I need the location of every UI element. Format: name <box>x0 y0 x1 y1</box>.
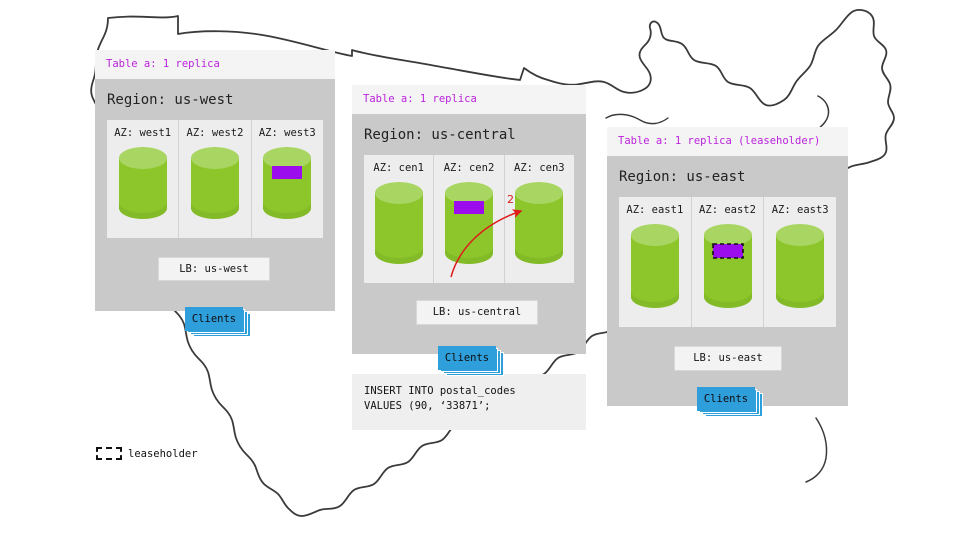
node-cylinder-west2[interactable] <box>189 146 241 220</box>
az-container-us-west: AZ: west1 AZ: west2 <box>107 120 323 238</box>
replica-marker <box>272 166 302 179</box>
cylinder-icon <box>629 223 681 309</box>
az-label-east1: AZ: east1 <box>626 204 683 216</box>
region-body-us-west: Region: us-west AZ: west1 AZ: west2 <box>95 79 335 311</box>
node-cylinder-cen3[interactable] <box>513 181 565 265</box>
table-header-us-east: Table a: 1 replica (leaseholder) <box>607 127 848 156</box>
region-panel-us-west: Table a: 1 replica Region: us-west AZ: w… <box>95 50 335 311</box>
clients-button-label[interactable]: Clients <box>438 346 496 370</box>
replica-marker <box>454 201 484 214</box>
region-panel-us-east: Table a: 1 replica (leaseholder) Region:… <box>607 127 848 406</box>
az-label-cen3: AZ: cen3 <box>514 162 565 174</box>
cylinder-icon <box>261 146 313 220</box>
legend-label: leaseholder <box>128 448 198 460</box>
step-number-2: 2 <box>507 193 514 206</box>
clients-button-us-west[interactable]: Clients <box>185 307 251 337</box>
clients-button-us-central[interactable]: Clients <box>438 346 504 376</box>
node-cylinder-west1[interactable] <box>117 146 169 220</box>
cylinder-icon <box>513 181 565 265</box>
node-cylinder-east3[interactable] <box>774 223 826 309</box>
node-cylinder-cen2[interactable] <box>443 181 495 265</box>
table-header-us-central: Table a: 1 replica <box>352 85 586 114</box>
az-label-west2: AZ: west2 <box>187 127 244 139</box>
az-container-us-central: AZ: cen1 AZ: cen2 <box>364 155 574 283</box>
region-body-us-east: Region: us-east AZ: east1 AZ: east2 <box>607 156 848 406</box>
node-cylinder-east2[interactable] <box>702 223 754 309</box>
load-balancer-us-west[interactable]: LB: us-west <box>158 257 270 281</box>
diagram-canvas: Table a: 1 replica Region: us-west AZ: w… <box>0 0 960 540</box>
region-title-us-west: Region: us-west <box>95 79 335 120</box>
cylinder-icon <box>189 146 241 220</box>
az-label-cen1: AZ: cen1 <box>373 162 424 174</box>
table-header-us-west: Table a: 1 replica <box>95 50 335 79</box>
az-label-east3: AZ: east3 <box>772 204 829 216</box>
leaseholder-swatch-icon <box>96 447 122 460</box>
az-label-east2: AZ: east2 <box>699 204 756 216</box>
region-body-us-central: Region: us-central AZ: cen1 AZ: cen2 <box>352 114 586 354</box>
legend: leaseholder <box>96 447 198 460</box>
region-title-us-east: Region: us-east <box>607 156 848 197</box>
az-label-west1: AZ: west1 <box>114 127 171 139</box>
cylinder-icon <box>117 146 169 220</box>
clients-button-label[interactable]: Clients <box>185 307 243 331</box>
az-label-west3: AZ: west3 <box>259 127 316 139</box>
az-cell-east1[interactable]: AZ: east1 <box>619 197 692 327</box>
load-balancer-us-central[interactable]: LB: us-central <box>416 300 538 325</box>
cylinder-icon <box>774 223 826 309</box>
az-cell-west3[interactable]: AZ: west3 <box>252 120 323 238</box>
region-title-us-central: Region: us-central <box>352 114 586 155</box>
az-cell-cen1[interactable]: AZ: cen1 <box>364 155 434 283</box>
az-cell-west2[interactable]: AZ: west2 <box>179 120 251 238</box>
az-cell-east2[interactable]: AZ: east2 <box>692 197 765 327</box>
load-balancer-us-east[interactable]: LB: us-east <box>674 346 782 371</box>
cylinder-icon <box>443 181 495 265</box>
az-cell-cen2[interactable]: AZ: cen2 <box>434 155 504 283</box>
region-panel-us-central: Table a: 1 replica Region: us-central AZ… <box>352 85 586 354</box>
cylinder-icon <box>373 181 425 265</box>
az-cell-east3[interactable]: AZ: east3 <box>764 197 836 327</box>
az-cell-west1[interactable]: AZ: west1 <box>107 120 179 238</box>
sql-statement-block: INSERT INTO postal_codes VALUES (90, ‘33… <box>352 374 586 430</box>
node-cylinder-east1[interactable] <box>629 223 681 309</box>
node-cylinder-cen1[interactable] <box>373 181 425 265</box>
node-cylinder-west3[interactable] <box>261 146 313 220</box>
az-cell-cen3[interactable]: AZ: cen3 <box>505 155 574 283</box>
az-container-us-east: AZ: east1 AZ: east2 <box>619 197 836 327</box>
clients-button-us-east[interactable]: Clients <box>697 387 763 417</box>
clients-button-label[interactable]: Clients <box>697 387 755 411</box>
cylinder-icon <box>702 223 754 309</box>
az-label-cen2: AZ: cen2 <box>444 162 495 174</box>
replica-marker-leaseholder <box>713 244 743 258</box>
us-map-florida-detail <box>806 418 827 482</box>
